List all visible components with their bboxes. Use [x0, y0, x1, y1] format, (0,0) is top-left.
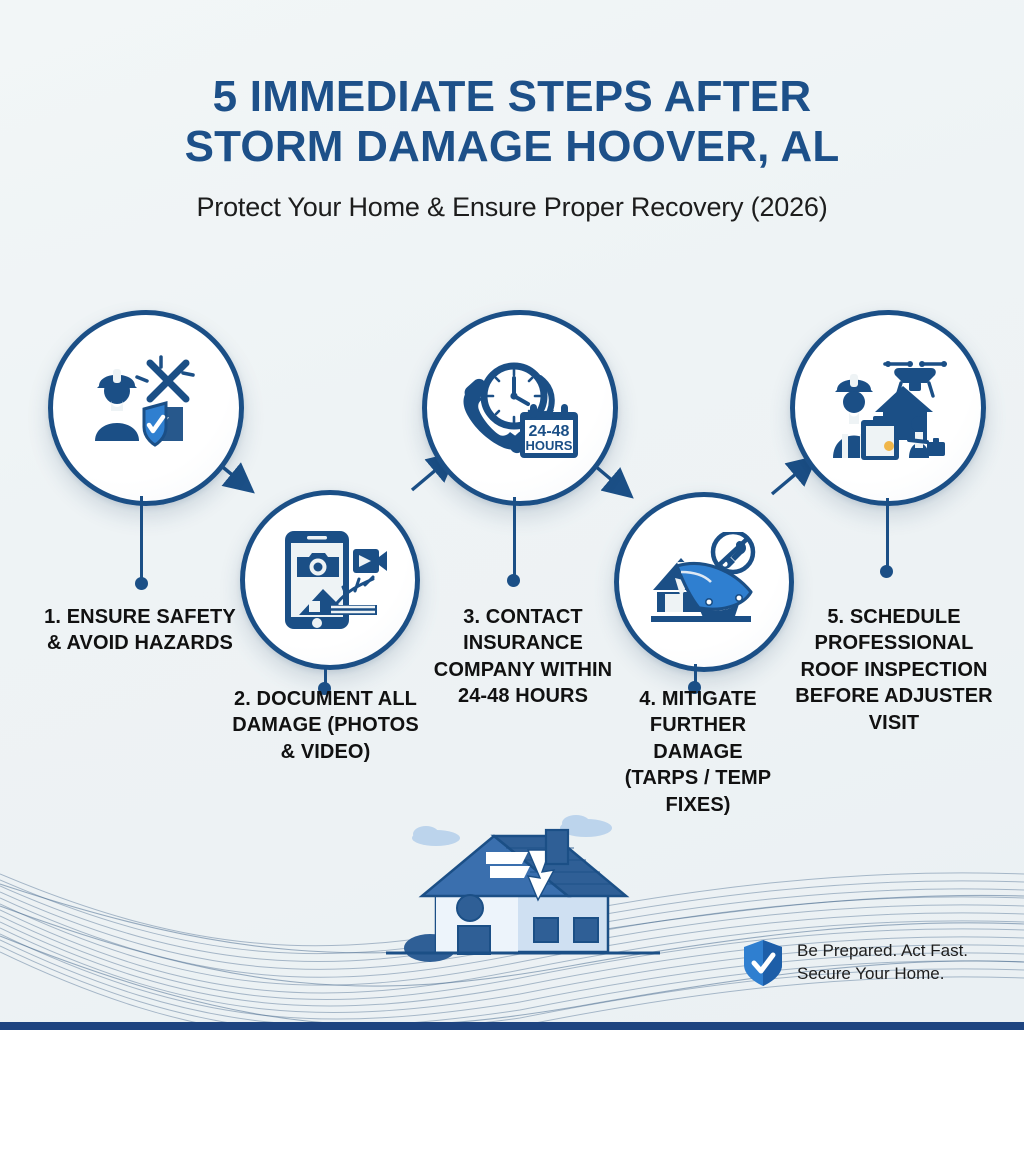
- step-1-stem: [140, 496, 143, 580]
- phone-clock-calendar-icon: 24-48 HOURS: [458, 354, 582, 462]
- smartphone-camera-video-damage-icon: [273, 527, 387, 633]
- step-3-circle[interactable]: 24-48 HOURS: [422, 310, 618, 506]
- calendar-line-2: HOURS: [526, 438, 573, 453]
- house-illustration: [378, 800, 668, 965]
- footer: Prime Roofing & Restoration www.prime-ro…: [0, 1030, 1024, 1154]
- house-tarp-no-repair-icon: [647, 532, 761, 632]
- inspector-drone-adjuster-icon: [827, 354, 949, 462]
- divider-bar: [0, 1022, 1024, 1030]
- tagline-line-2: Secure Your Home.: [797, 963, 968, 986]
- step-1-dot: [135, 577, 148, 590]
- worker-shield-hazard-icon: [87, 353, 205, 463]
- step-3-dot: [507, 574, 520, 587]
- chimney: [546, 830, 568, 864]
- arrow-4-to-5: [772, 462, 810, 494]
- step-5-label: 5. SCHEDULE PROFESSIONAL ROOF INSPECTION…: [792, 604, 996, 736]
- step-5-circle[interactable]: [790, 310, 986, 506]
- tagline-text: Be Prepared. Act Fast. Secure Your Home.: [797, 940, 968, 986]
- tagline: Be Prepared. Act Fast. Secure Your Home.: [742, 938, 1002, 988]
- step-2-circle[interactable]: [240, 490, 420, 670]
- step-3-stem: [513, 497, 516, 577]
- step-4-circle[interactable]: [614, 492, 794, 672]
- door: [458, 926, 490, 954]
- step-1-circle[interactable]: [48, 310, 244, 506]
- step-4-label: 4. MITIGATE FURTHER DAMAGE (TARPS / TEMP…: [614, 686, 782, 818]
- roof-damage-patch: [486, 852, 528, 864]
- window-left: [534, 918, 558, 942]
- shield-check-icon: [742, 938, 784, 988]
- window-right: [574, 918, 598, 942]
- step-5-stem: [886, 498, 889, 568]
- infographic-page: 5 IMMEDIATE STEPS AFTER STORM DAMAGE HOO…: [0, 0, 1024, 1154]
- round-window: [457, 895, 483, 921]
- step-3-label: 3. CONTACT INSURANCE COMPANY WITHIN 24-4…: [428, 604, 618, 710]
- step-2-label: 2. DOCUMENT ALL DAMAGE (PHOTOS & VIDEO): [228, 686, 423, 765]
- step-5-dot: [880, 565, 893, 578]
- tagline-line-1: Be Prepared. Act Fast.: [797, 940, 968, 963]
- step-1-label: 1. ENSURE SAFETY & AVOID HAZARDS: [40, 604, 240, 657]
